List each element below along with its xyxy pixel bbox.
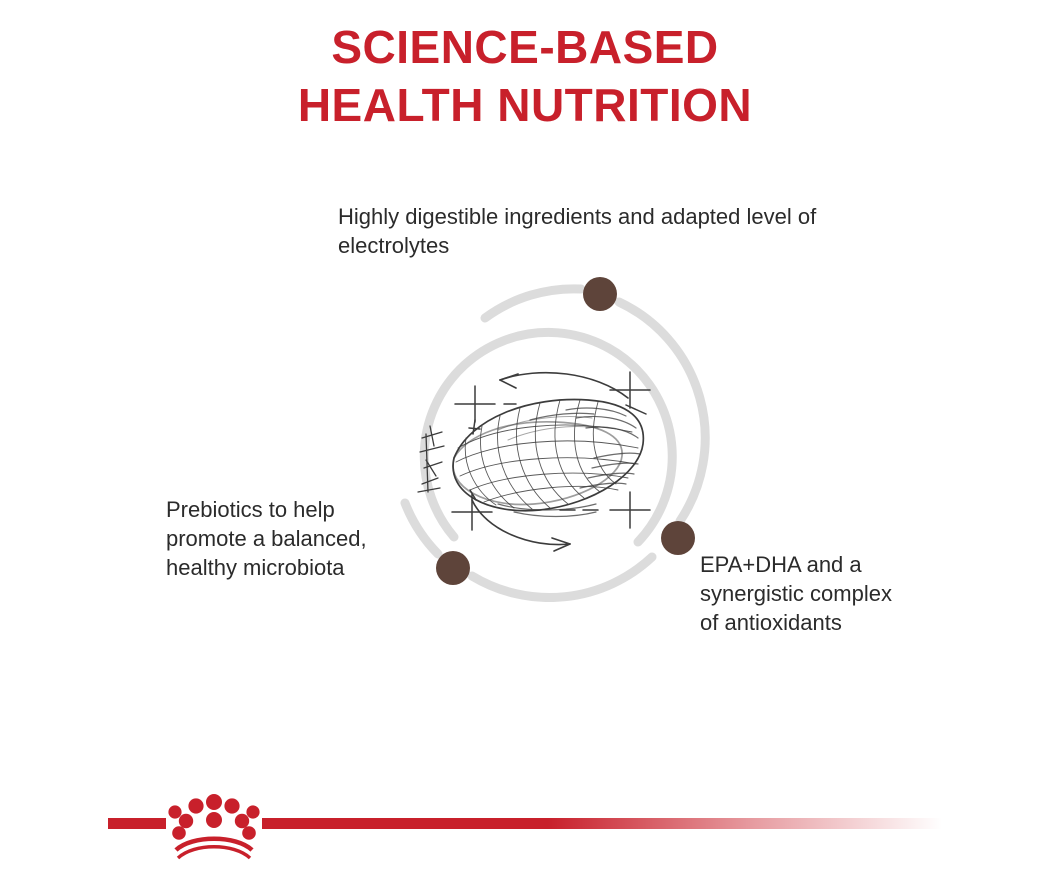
brand-bar-left	[108, 818, 166, 829]
crown-dot-top-left	[188, 798, 203, 813]
poster-root: SCIENCE-BASED HEALTH NUTRITION Highly di…	[0, 0, 1050, 875]
crown-dot-outer-left	[168, 805, 181, 818]
flow-arrow-top	[500, 373, 628, 398]
crown-dot-mid-right	[235, 814, 249, 828]
node-bottom-left-dot	[436, 551, 470, 585]
dimension-crosshair-bottom-right	[560, 492, 650, 528]
royal-canin-crown-logo	[168, 794, 259, 858]
crown-dot-low-left	[172, 826, 186, 840]
kibble-sketch	[418, 372, 650, 551]
callout-text-prebiotics: Prebiotics to help promote a balanced, h…	[166, 495, 406, 582]
page-title: SCIENCE-BASED HEALTH NUTRITION	[0, 18, 1050, 134]
callout-text-epa-dha: EPA+DHA and a synergistic complex of ant…	[700, 550, 910, 637]
page-title-line-2: HEALTH NUTRITION	[0, 76, 1050, 134]
crown-dot-low-right	[242, 826, 256, 840]
kibble-highlight	[498, 417, 598, 441]
dimension-crosshair-bottom-left	[452, 490, 492, 530]
page-title-line-1: SCIENCE-BASED	[0, 18, 1050, 76]
brand-bar-right	[262, 818, 942, 829]
node-right-dot	[661, 521, 695, 555]
crown-dot-top-right	[224, 798, 239, 813]
crown-dot-mid-center	[206, 812, 222, 828]
crown-dot-mid-left	[179, 814, 193, 828]
footer-brand-bar	[0, 780, 1050, 875]
kibble-diagram	[380, 262, 720, 602]
crown-dot-top-center	[206, 794, 222, 810]
crown-base-arc	[176, 839, 252, 858]
callout-text-digestibility: Highly digestible ingredients and adapte…	[338, 202, 858, 260]
crown-dot-outer-right	[246, 805, 259, 818]
node-top-dot	[583, 277, 617, 311]
